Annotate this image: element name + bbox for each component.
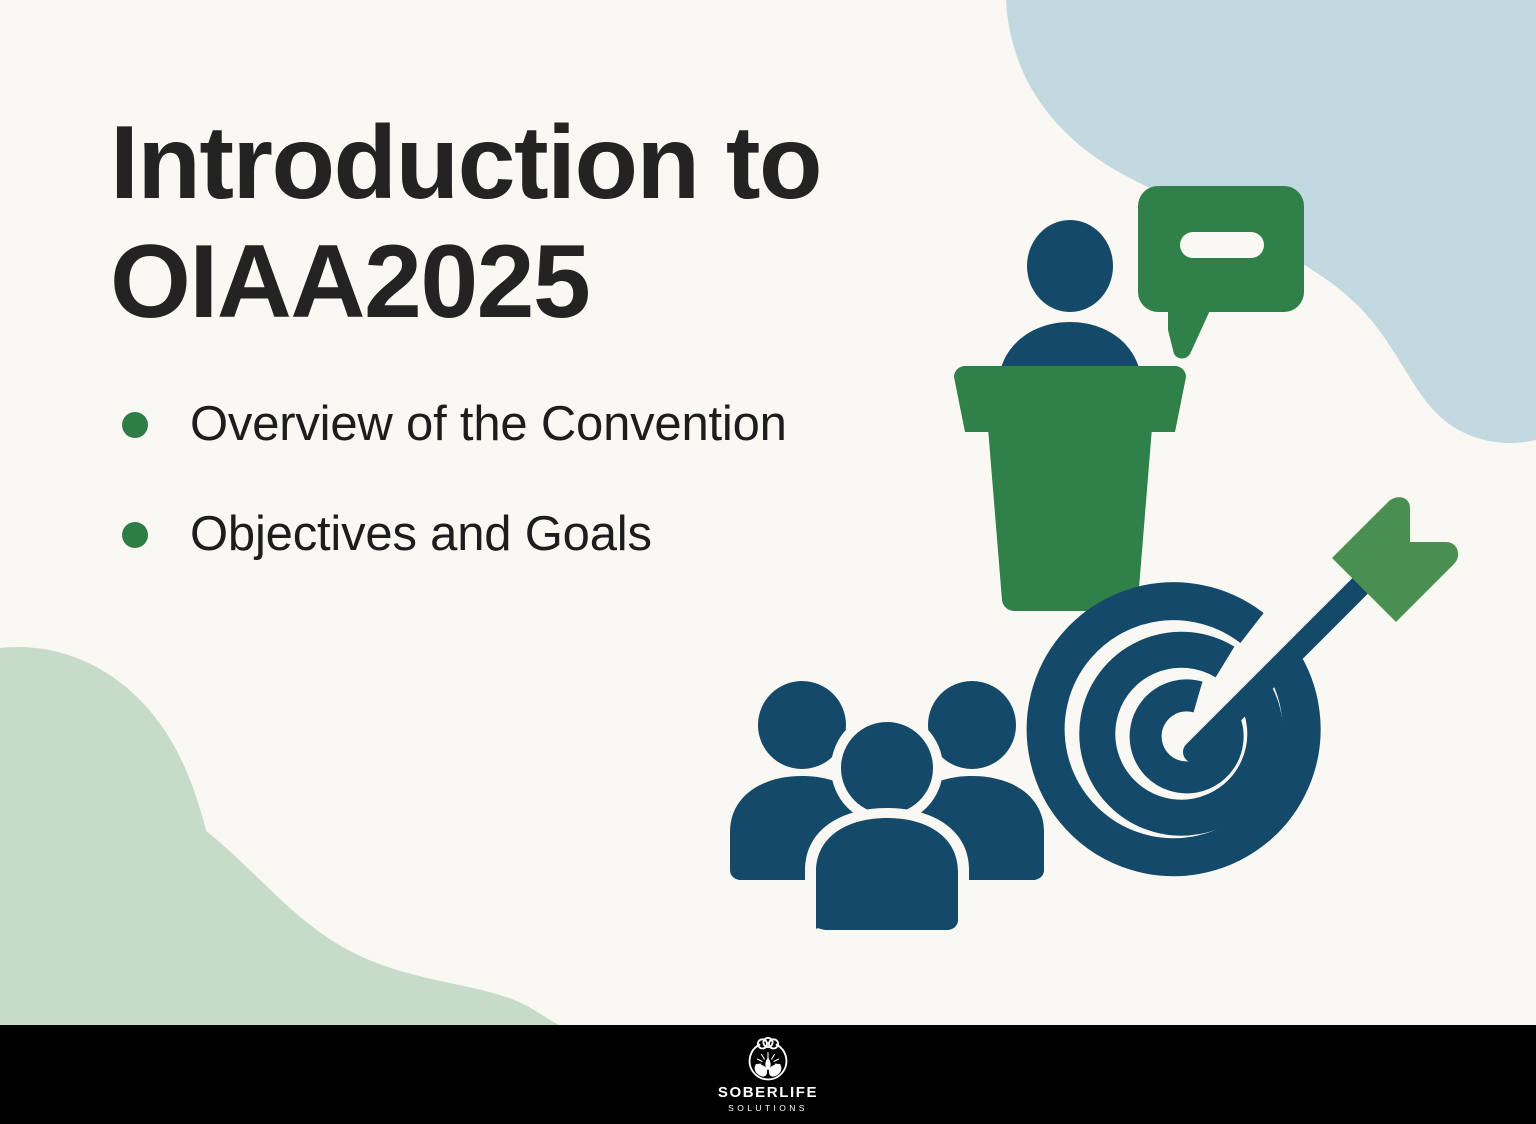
bullet-label: Objectives and Goals [190,508,652,562]
footer-brand-name: SOBERLIFE [718,1085,818,1100]
bullet-label: Overview of the Convention [190,398,787,452]
soberlife-emblem-icon [745,1037,791,1083]
green-blob-shape-upper [0,647,286,966]
bullet-dot-icon [122,522,148,548]
footer-bar: SOBERLIFE SOLUTIONS [0,1025,1536,1124]
bullet-dot-icon [122,412,148,438]
audience-group-icon [730,681,1044,930]
presentation-slide: Introduction to OIAA2025 Overview of the… [0,0,1536,1124]
speech-bubble-icon [1138,186,1304,359]
illustration-cluster [720,170,1460,930]
footer-tagline: SOLUTIONS [728,1104,808,1113]
green-blob-shape [0,768,560,1025]
